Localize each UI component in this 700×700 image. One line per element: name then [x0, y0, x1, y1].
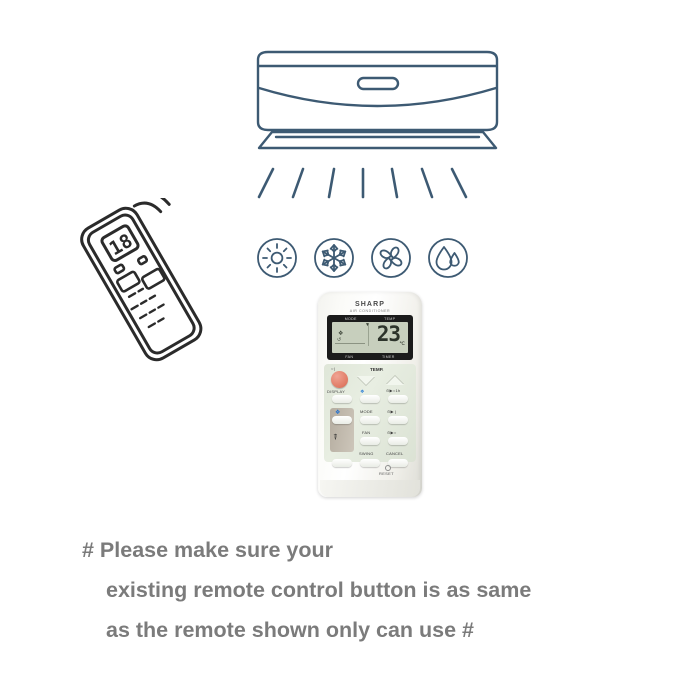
- ion-bottom-button[interactable]: [332, 459, 352, 467]
- lcd-screen: ▼ ❖ ↺ 23 ℃: [332, 322, 408, 353]
- lcd-footer: FAN TIMER: [331, 354, 409, 360]
- swing-top-button[interactable]: [360, 395, 380, 403]
- snowflake-icon: [312, 236, 356, 280]
- remote-brand-subtitle: AIR CONDITIONER: [318, 309, 422, 313]
- timer-on-button[interactable]: [388, 416, 408, 424]
- remote-control-sketch-illustration: 18: [68, 198, 218, 363]
- timer-1h-button[interactable]: [388, 395, 408, 403]
- sharp-remote-control: SHARP AIR CONDITIONER MODE TEMP ▼ ❖ ↺ 23…: [318, 292, 422, 497]
- fan-icon: [369, 236, 413, 280]
- power-button[interactable]: [331, 371, 348, 388]
- ion-button-strip: [330, 408, 354, 452]
- timer-off-button[interactable]: [388, 437, 408, 445]
- remote-brand-label: SHARP: [318, 301, 422, 308]
- fan-button[interactable]: [360, 437, 380, 445]
- timer-on-label: ⊙▶ |: [387, 409, 396, 414]
- product-illustration-canvas: 18: [0, 0, 700, 700]
- lcd-temperature-value: 23: [377, 324, 400, 345]
- caption-line-1: # Please make sure your: [82, 530, 642, 570]
- mode-icon-row: [255, 236, 470, 280]
- signal-wave-icon: [129, 198, 170, 222]
- fan-label: FAN: [362, 430, 370, 435]
- lcd-header-temp: TEMP: [384, 317, 395, 321]
- timer-1h-label: ⊙▶○1h: [386, 388, 400, 393]
- lcd-mode-arrow-icon: ▼: [365, 323, 370, 328]
- ion-mode-icon: ⍒: [333, 434, 338, 442]
- mode-button[interactable]: [360, 416, 380, 424]
- plasmacluster-button[interactable]: [332, 416, 352, 424]
- caption-line-2: existing remote control button is as sam…: [82, 570, 642, 610]
- timer-off-label: ⊙▶○: [387, 430, 396, 435]
- display-button[interactable]: [332, 395, 352, 403]
- cancel-label: CANCEL: [386, 451, 403, 456]
- air-conditioner-unit-illustration: [250, 50, 505, 160]
- remote-control-panel: ○| DISPLAY TEMP. ❖ ⊙▶○1h ❖ MODE ⊙▶ | ⍒ F…: [324, 364, 416, 462]
- temp-down-button[interactable]: [357, 376, 375, 385]
- power-button-symbol: ○|: [331, 366, 335, 371]
- swing-button[interactable]: [360, 459, 380, 467]
- reset-label: RESET: [379, 471, 394, 476]
- water-drop-icon: [426, 236, 470, 280]
- lcd-bezel: MODE TEMP ▼ ❖ ↺ 23 ℃ FAN TIMER: [327, 315, 413, 360]
- temp-label: TEMP.: [370, 367, 383, 372]
- airflow-lines-illustration: [255, 165, 470, 203]
- temp-up-button[interactable]: [386, 376, 404, 385]
- cancel-button[interactable]: [388, 459, 408, 467]
- remote-bottom-cover: [320, 480, 420, 497]
- display-button-label: DISPLAY: [327, 389, 345, 394]
- lcd-footer-timer: TIMER: [382, 355, 395, 359]
- swing-label: SWING: [359, 451, 374, 456]
- mode-label: MODE: [360, 409, 373, 414]
- sun-icon: [255, 236, 299, 280]
- lcd-header-mode: MODE: [345, 317, 357, 321]
- lcd-temperature-unit: ℃: [399, 341, 405, 347]
- lcd-footer-fan: FAN: [345, 355, 353, 359]
- lcd-bar-indicator: [335, 343, 365, 344]
- caption-text-block: # Please make sure your existing remote …: [82, 530, 642, 650]
- caption-line-3: as the remote shown only can use #: [82, 610, 642, 650]
